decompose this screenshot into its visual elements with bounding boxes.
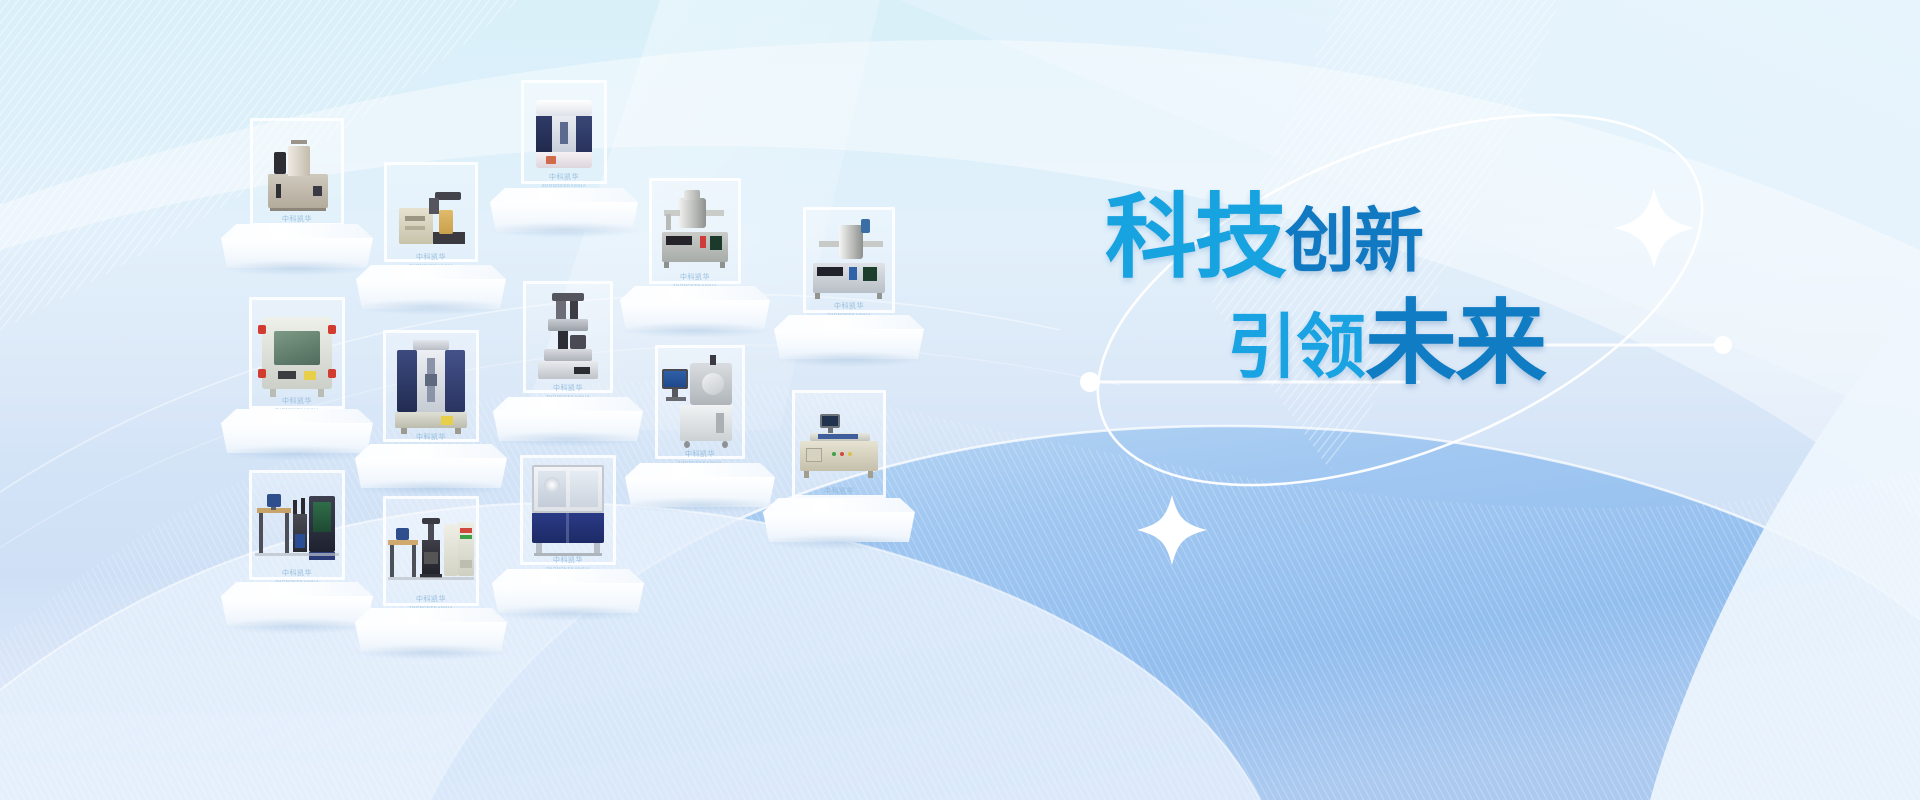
plinth-shadow: [762, 534, 917, 550]
product-tile-p05[interactable]: 中科凯华ZHONGKEKAIHUA: [759, 207, 939, 359]
product-image-p13: [526, 465, 610, 557]
product-tile-p13[interactable]: 中科凯华ZHONGKEKAIHUA: [478, 455, 658, 613]
product-image-p11: [255, 490, 339, 568]
headline-line2-tail: 未来: [1365, 298, 1545, 390]
product-image-p06: [256, 313, 338, 397]
product-image-p10: [796, 414, 882, 480]
plinth-shadow: [772, 351, 927, 367]
plinth-shadow: [354, 644, 509, 660]
product-image-p01: [258, 140, 336, 212]
product-image-p02: [393, 186, 469, 250]
headline-line-1: 科技 创新: [1105, 192, 1665, 284]
product-image-p12: [388, 516, 474, 592]
hero-banner: 中科凯华ZHONGKEKAIHUA 中科凯华ZHONGKEKAI: [0, 0, 1920, 800]
plinth-shadow: [491, 605, 646, 621]
headline-line-2: 引领 未来: [1105, 298, 1665, 390]
headline-line2-lead: 引领: [1227, 312, 1365, 382]
product-image-p03: [528, 98, 600, 172]
product-image-p07: [391, 340, 471, 434]
product-tile-p10[interactable]: 中科凯华ZHONGKEKAIHUA: [749, 390, 929, 542]
watermark-p03: 中科凯华ZHONGKEKAIHUA: [542, 174, 586, 188]
headline-block: 科技 创新 引领 未来: [1105, 192, 1665, 390]
product-image-p04: [656, 188, 734, 272]
headline-line1-tail: 创新: [1285, 206, 1423, 276]
headline-line1-lead: 科技: [1105, 192, 1285, 284]
product-showcase-grid: 中科凯华ZHONGKEKAIHUA 中科凯华ZHONGKEKAI: [0, 0, 1920, 800]
product-image-p05: [809, 217, 889, 301]
product-image-p09: [660, 359, 740, 451]
product-image-p08: [530, 293, 606, 385]
